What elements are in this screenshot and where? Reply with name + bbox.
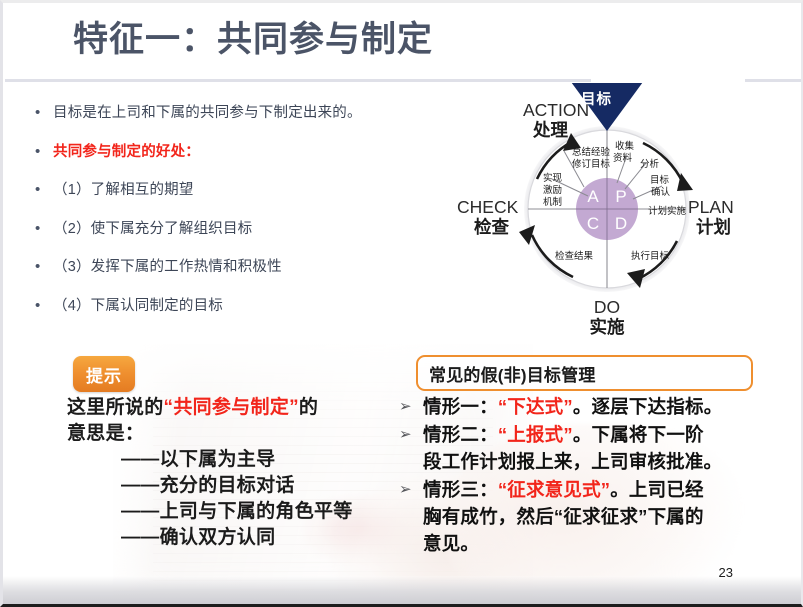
tip-item: ——确认双方认同	[67, 525, 417, 551]
tip-line-2: 意思是：	[67, 421, 417, 447]
tip-line1-pre: 这里所说的	[67, 397, 164, 418]
pdca-letter-d: D	[615, 214, 627, 233]
pdca-letter-p: P	[615, 187, 626, 206]
pdca-label-do-cn: 实施	[590, 317, 625, 337]
pdca-inner-analyze: 分析	[640, 158, 660, 170]
title-divider-left	[5, 79, 591, 82]
tip-badge-label: 提示	[86, 362, 122, 387]
pdca-inner-execute: 执行目标	[631, 250, 670, 262]
list-item: • 目标是在上司和下属的共同参与下制定出来的。	[35, 103, 435, 123]
panel-heading-box: 常见的假(非)目标管理	[416, 355, 753, 391]
arrow-bullet-icon: ➢	[399, 476, 423, 503]
pdca-inner-implement: 计划实施	[648, 205, 687, 217]
bullet-dot-icon: •	[35, 103, 53, 123]
background-bottom-strip	[3, 576, 801, 604]
list-item: ➢ 情形二：“上报式”。下属将下一阶 段工作计划报上来，上司审核批准。	[399, 421, 791, 475]
list-item: • （1）了解相互的期望	[35, 180, 435, 200]
pdca-letter-a: A	[587, 187, 599, 206]
case-list: ➢ 情形一：“下达式”。逐层下达指标。 ➢ 情形二：“上报式”。下属将下一阶 段…	[399, 393, 791, 558]
pdca-label-do-en: DO	[594, 297, 620, 317]
pdca-label-action-en: ACTION	[523, 100, 589, 120]
arrow-bullet-icon: ➢	[399, 421, 423, 448]
tip-item: ——上司与下属的角色平等	[67, 499, 417, 525]
arrow-bullet-icon: ➢	[399, 393, 423, 420]
tip-badge: 提示	[73, 356, 135, 392]
case-post: 胸有成竹，然后“征求征求”下属的	[423, 506, 704, 527]
case-post: 。上司已经	[610, 479, 704, 500]
page-title: 特征一：共同参与制定	[73, 11, 433, 62]
list-item: • （3）发挥下属的工作热情和积极性	[35, 257, 435, 277]
list-item: ➢ 情形一：“下达式”。逐层下达指标。	[399, 393, 791, 420]
case-post: 。逐层下达指标。	[573, 396, 723, 417]
bullet-dot-icon: •	[35, 219, 53, 239]
bullet-text: （4）下属认同制定的目标	[53, 296, 223, 316]
title-area: 特征一：共同参与制定	[3, 3, 803, 81]
pdca-label-plan-cn: 计划	[696, 217, 731, 237]
bullet-dot-icon: •	[35, 296, 53, 316]
case-pre: 情形一：	[423, 396, 498, 417]
pdca-label-action-cn: 处理	[532, 120, 568, 140]
case-text: 情形一：“下达式”。逐层下达指标。	[423, 393, 722, 420]
case-highlight: “征求意见式”	[498, 479, 610, 500]
presentation-slide: 特征一：共同参与制定 • 目标是在上司和下属的共同参与下制定出来的。 • 共同参…	[0, 0, 803, 607]
goal-triangle-label: 目标	[581, 88, 612, 109]
tip-line1-quoted: “共同参与制定”	[164, 397, 299, 418]
case-pre: 情形二：	[423, 424, 498, 445]
bullet-text: 共同参与制定的好处：	[53, 142, 200, 162]
pdca-cycle-diagram: A P C D ACTION	[455, 83, 785, 341]
list-item: • （2）使下属充分了解组织目标	[35, 219, 435, 239]
case-post: 段工作计划报上来，上司审核批准。	[423, 451, 722, 472]
case-post: 。下属将下一阶	[573, 424, 704, 445]
pdca-label-check-en: CHECK	[457, 197, 519, 217]
bullet-text: （2）使下属充分了解组织目标	[53, 219, 252, 239]
pdca-label-check-cn: 检查	[474, 217, 509, 237]
list-item: • 共同参与制定的好处：	[35, 142, 435, 162]
case-highlight: “下达式”	[498, 396, 573, 417]
case-pre: 情形三：	[423, 479, 498, 500]
title-divider-right	[745, 79, 803, 82]
pdca-inner-confirm-2: 确认	[651, 186, 671, 198]
list-item: • （4）下属认同制定的目标	[35, 296, 435, 316]
panel-heading-label: 常见的假(非)目标管理	[429, 361, 596, 386]
pdca-inner-confirm-1: 目标	[650, 174, 670, 186]
tip-item: ——以下属为主导	[67, 447, 417, 473]
pdca-inner-motivate-3: 机制	[543, 196, 562, 208]
bullet-dot-icon: •	[35, 142, 53, 162]
case-highlight: “上报式”	[498, 424, 573, 445]
list-item: ➢ 情形三：“征求意见式”。上司已经 胸有成竹，然后“征求征求”下属的 意见。	[399, 476, 791, 557]
pdca-svg: A P C D ACTION	[455, 83, 785, 341]
pdca-label-plan-en: PLAN	[688, 197, 734, 217]
bullet-text: 目标是在上司和下属的共同参与下制定出来的。	[53, 103, 362, 123]
page-number: 23	[719, 565, 733, 580]
bullet-text: （1）了解相互的期望	[53, 180, 194, 200]
pdca-inner-motivate-1: 实现	[543, 172, 563, 184]
pdca-inner-summary-1: 总结经验	[572, 146, 611, 158]
bullet-list: • 目标是在上司和下属的共同参与下制定出来的。 • 共同参与制定的好处： • （…	[35, 103, 435, 334]
tip-body: 这里所说的“共同参与制定”的 意思是： ——以下属为主导 ——充分的目标对话 —…	[67, 395, 417, 551]
tip-item: ——充分的目标对话	[67, 473, 417, 499]
case-text: 情形三：“征求意见式”。上司已经 胸有成竹，然后“征求征求”下属的 意见。	[423, 476, 704, 557]
pdca-inner-motivate-2: 激励	[543, 184, 562, 196]
bullet-dot-icon: •	[35, 257, 53, 277]
case-text: 情形二：“上报式”。下属将下一阶 段工作计划报上来，上司审核批准。	[423, 421, 722, 475]
pdca-inner-collect-2: 资料	[613, 152, 633, 164]
tip-line-1: 这里所说的“共同参与制定”的	[67, 395, 417, 421]
bullet-text: （3）发挥下属的工作热情和积极性	[53, 257, 282, 277]
tip-line1-post: 的	[299, 397, 318, 418]
bullet-dot-icon: •	[35, 180, 53, 200]
case-post: 意见。	[423, 533, 479, 554]
pdca-inner-check-result: 检查结果	[555, 250, 594, 262]
pdca-inner-collect-1: 收集	[615, 140, 635, 152]
pdca-inner-summary-2: 修订目标	[572, 158, 611, 170]
pdca-letter-c: C	[587, 214, 599, 233]
